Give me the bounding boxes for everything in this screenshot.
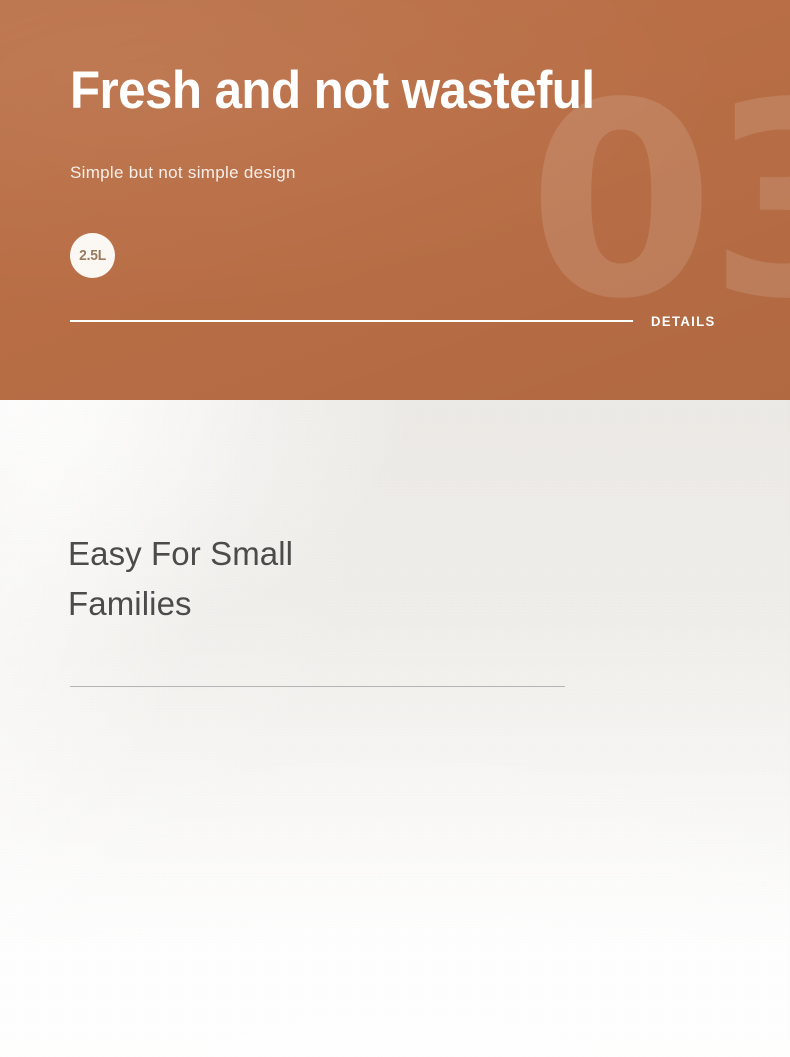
details-rule: [70, 320, 633, 322]
feature-panel: Easy For Small Families Small family is …: [0, 400, 790, 1057]
hero-banner: 03 Fresh and not wasteful Simple but not…: [0, 0, 790, 400]
capacity-badge: 2.5L: [70, 233, 115, 278]
panel-texture-overlay: [0, 400, 790, 1057]
feature-divider: [70, 686, 565, 687]
hero-subtitle: Simple but not simple design: [70, 163, 296, 183]
feature-heading: Easy For Small Families: [68, 529, 293, 628]
panel-lighting-overlay: [0, 400, 790, 1057]
hero-title: Fresh and not wasteful: [70, 60, 595, 123]
details-label: DETAILS: [651, 313, 716, 329]
capacity-badge-label: 2.5L: [79, 247, 106, 264]
product-detail-page: 03 Fresh and not wasteful Simple but not…: [0, 0, 790, 1057]
details-row: DETAILS: [70, 311, 718, 331]
